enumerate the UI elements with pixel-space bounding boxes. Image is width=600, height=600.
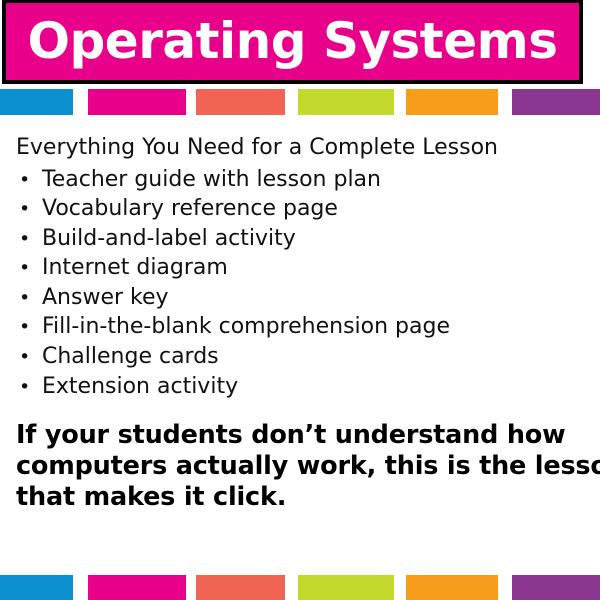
closing-line-3: that makes it click. <box>16 482 591 513</box>
list-item: • Challenge cards <box>16 342 586 372</box>
closing-line-1: If your students don’t understand how <box>16 420 591 451</box>
list-item: • Internet diagram <box>16 253 586 283</box>
slide-canvas: Operating Systems Everything You Need fo… <box>0 0 600 600</box>
list-item-label: Vocabulary reference page <box>42 194 338 224</box>
color-bar-lime <box>298 89 394 115</box>
bullet-icon: • <box>16 286 42 312</box>
bullet-icon: • <box>16 168 42 194</box>
color-bar-coral <box>196 89 285 115</box>
bullet-icon: • <box>16 375 42 401</box>
list-item-label: Extension activity <box>42 372 238 402</box>
page-title: Operating Systems <box>28 16 558 66</box>
title-banner: Operating Systems <box>2 0 583 84</box>
color-bar-magenta <box>88 89 186 115</box>
list-item: • Build-and-label activity <box>16 224 586 254</box>
list-item: • Vocabulary reference page <box>16 194 586 224</box>
bullet-icon: • <box>16 256 42 282</box>
color-bar-purple <box>512 575 600 600</box>
color-bar-blue <box>0 575 73 600</box>
color-bar-orange <box>406 89 498 115</box>
color-bar-purple <box>512 89 600 115</box>
list-item: • Answer key <box>16 283 586 313</box>
bullet-icon: • <box>16 315 42 341</box>
feature-list: • Teacher guide with lesson plan • Vocab… <box>16 165 586 402</box>
list-item: • Extension activity <box>16 372 586 402</box>
lesson-contents: Everything You Need for a Complete Lesso… <box>16 134 586 401</box>
list-item: • Teacher guide with lesson plan <box>16 165 586 195</box>
list-item: • Fill-in-the-blank comprehension page <box>16 312 586 342</box>
list-item-label: Build-and-label activity <box>42 224 296 254</box>
list-item-label: Internet diagram <box>42 253 228 283</box>
list-item-label: Challenge cards <box>42 342 219 372</box>
top-color-bar-strip <box>0 89 600 115</box>
bottom-color-bar-strip <box>0 575 600 600</box>
list-item-label: Teacher guide with lesson plan <box>42 165 381 195</box>
bullet-icon: • <box>16 345 42 371</box>
bullet-icon: • <box>16 197 42 223</box>
color-bar-orange <box>406 575 498 600</box>
bullet-icon: • <box>16 227 42 253</box>
color-bar-coral <box>196 575 285 600</box>
closing-statement: If your students don’t understand how co… <box>16 420 591 513</box>
lead-line: Everything You Need for a Complete Lesso… <box>16 134 586 163</box>
color-bar-magenta <box>88 575 186 600</box>
list-item-label: Answer key <box>42 283 169 313</box>
color-bar-lime <box>298 575 394 600</box>
list-item-label: Fill-in-the-blank comprehension page <box>42 312 450 342</box>
closing-line-2: computers actually work, this is the les… <box>16 451 591 482</box>
color-bar-blue <box>0 89 73 115</box>
